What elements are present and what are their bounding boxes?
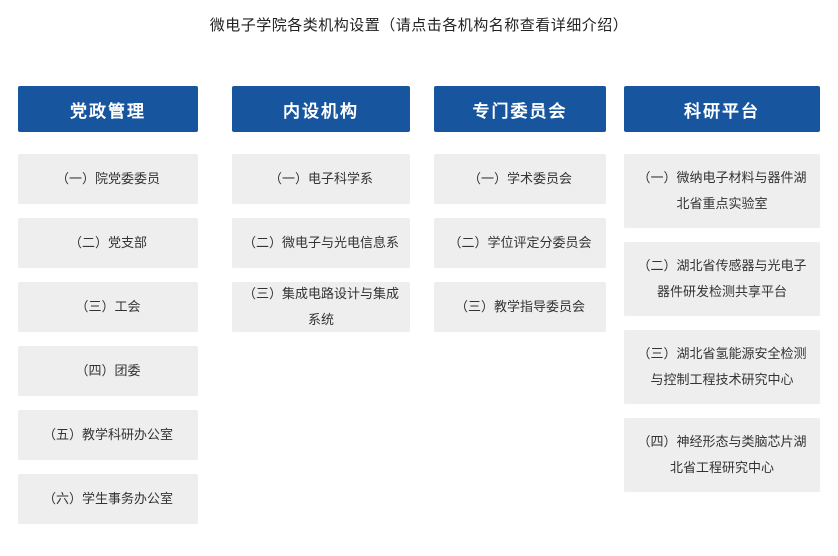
list-item[interactable]: （一）微纳电子材料与器件湖北省重点实验室 <box>624 154 820 228</box>
column-party-administration: 党政管理 （一）院党委委员 （二）党支部 （三）工会 （四）团委 （五）教学科研… <box>18 86 198 524</box>
page-title: 微电子学院各类机构设置（请点击各机构名称查看详细介绍） <box>0 14 838 35</box>
list-item[interactable]: （五）教学科研办公室 <box>18 410 198 460</box>
list-item[interactable]: （一）院党委委员 <box>18 154 198 204</box>
column-header-special-committees[interactable]: 专门委员会 <box>434 86 606 132</box>
list-item[interactable]: （二）湖北省传感器与光电子器件研发检测共享平台 <box>624 242 820 316</box>
list-item[interactable]: （二）党支部 <box>18 218 198 268</box>
list-item[interactable]: （三）湖北省氢能源安全检测与控制工程技术研究中心 <box>624 330 820 404</box>
list-item[interactable]: （三）教学指导委员会 <box>434 282 606 332</box>
list-item[interactable]: （三）集成电路设计与集成系统 <box>232 282 410 332</box>
list-item[interactable]: （四）神经形态与类脑芯片湖北省工程研究中心 <box>624 418 820 492</box>
column-header-party-administration[interactable]: 党政管理 <box>18 86 198 132</box>
list-item[interactable]: （三）工会 <box>18 282 198 332</box>
column-special-committees: 专门委员会 （一）学术委员会 （二）学位评定分委员会 （三）教学指导委员会 <box>434 86 606 332</box>
column-items-party-administration: （一）院党委委员 （二）党支部 （三）工会 （四）团委 （五）教学科研办公室 （… <box>18 154 198 524</box>
column-internal-departments: 内设机构 （一）电子科学系 （二）微电子与光电信息系 （三）集成电路设计与集成系… <box>232 86 410 332</box>
column-items-research-platforms: （一）微纳电子材料与器件湖北省重点实验室 （二）湖北省传感器与光电子器件研发检测… <box>624 154 820 492</box>
list-item[interactable]: （二）学位评定分委员会 <box>434 218 606 268</box>
column-header-research-platforms[interactable]: 科研平台 <box>624 86 820 132</box>
list-item[interactable]: （二）微电子与光电信息系 <box>232 218 410 268</box>
list-item[interactable]: （一）学术委员会 <box>434 154 606 204</box>
list-item[interactable]: （一）电子科学系 <box>232 154 410 204</box>
column-items-internal-departments: （一）电子科学系 （二）微电子与光电信息系 （三）集成电路设计与集成系统 <box>232 154 410 332</box>
column-header-internal-departments[interactable]: 内设机构 <box>232 86 410 132</box>
column-items-special-committees: （一）学术委员会 （二）学位评定分委员会 （三）教学指导委员会 <box>434 154 606 332</box>
list-item[interactable]: （六）学生事务办公室 <box>18 474 198 524</box>
org-chart-page: 微电子学院各类机构设置（请点击各机构名称查看详细介绍） 党政管理 （一）院党委委… <box>0 0 838 556</box>
column-research-platforms: 科研平台 （一）微纳电子材料与器件湖北省重点实验室 （二）湖北省传感器与光电子器… <box>624 86 820 492</box>
list-item[interactable]: （四）团委 <box>18 346 198 396</box>
